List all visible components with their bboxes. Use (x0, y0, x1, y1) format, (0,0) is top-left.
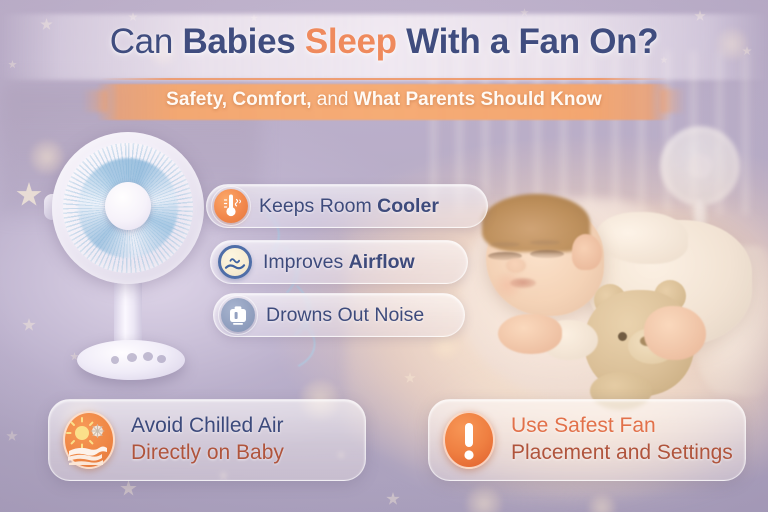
sun-hand-icon (63, 411, 115, 469)
benefit-pill-drowns-out-noise[interactable]: Drowns Out Noise (213, 293, 465, 337)
baby-nose (506, 258, 526, 273)
safety-card-avoid-chilled-air[interactable]: Avoid Chilled Air Directly on Baby (48, 399, 366, 481)
safety-card-0-line1: Avoid Chilled Air (131, 413, 284, 440)
benefit-label-0-plain: Keeps Room (259, 195, 377, 217)
safety-card-1-line2: Placement and Settings (511, 440, 733, 467)
safety-card-0-line2: Directly on Baby (131, 440, 284, 467)
baby-eyebrow-left (490, 242, 520, 247)
title-underline-rule (100, 78, 668, 80)
baby-ear (572, 234, 602, 270)
exclamation-icon (443, 411, 495, 469)
benefit-label-0: Keeps Room Cooler (259, 195, 439, 218)
benefit-pill-improves-airflow[interactable]: Improves Airflow (210, 240, 468, 284)
title-part-1: Can (110, 22, 183, 61)
speaker-noise-icon (221, 298, 255, 332)
safety-card-1-line1: Use Safest Fan (511, 413, 733, 440)
desk-fan (52, 132, 212, 394)
benefit-label-1-bold: Airflow (349, 251, 415, 273)
benefit-label-2: Drowns Out Noise (266, 304, 424, 327)
baby-hand-right (644, 306, 706, 360)
baby-eyebrow-right (530, 240, 560, 245)
benefit-pill-keeps-room-cooler[interactable]: Keeps Room Cooler (206, 184, 488, 228)
benefit-label-1: Improves Airflow (263, 251, 415, 274)
baby-hand-left (498, 314, 562, 354)
safety-card-0-text: Avoid Chilled Air Directly on Baby (131, 413, 284, 467)
airflow-icon (218, 245, 252, 279)
benefit-label-0-bold: Cooler (377, 195, 439, 217)
subtitle-part-3: What Parents Should Know (354, 89, 602, 110)
sleeping-baby-illustration (468, 186, 768, 406)
safety-card-1-text: Use Safest Fan Placement and Settings (511, 413, 733, 467)
title-part-3-accent: Sleep (305, 22, 406, 61)
benefit-label-2-plain: Drowns Out Noise (266, 304, 424, 326)
fan-hub (105, 182, 151, 230)
infographic-poster: Can Babies Sleep With a Fan On? Safety, … (0, 0, 768, 512)
title-part-2: Babies (182, 22, 304, 61)
fan-base (77, 340, 185, 380)
teddy-eye-left (618, 332, 627, 341)
subtitle-part-2: and (317, 89, 354, 110)
thermometer-icon (214, 189, 248, 223)
benefit-label-1-plain: Improves (263, 251, 349, 273)
baby-eye-right (530, 250, 564, 258)
baby-mouth (510, 278, 536, 288)
safety-card-use-safest-fan[interactable]: Use Safest Fan Placement and Settings (428, 399, 746, 481)
page-subtitle: Safety, Comfort, and What Parents Should… (0, 89, 768, 111)
page-title: Can Babies Sleep With a Fan On? (0, 22, 768, 62)
title-part-4: With a Fan On? (406, 22, 658, 61)
subtitle-part-1: Safety, Comfort, (166, 89, 317, 110)
background-fan-hub (688, 154, 712, 178)
